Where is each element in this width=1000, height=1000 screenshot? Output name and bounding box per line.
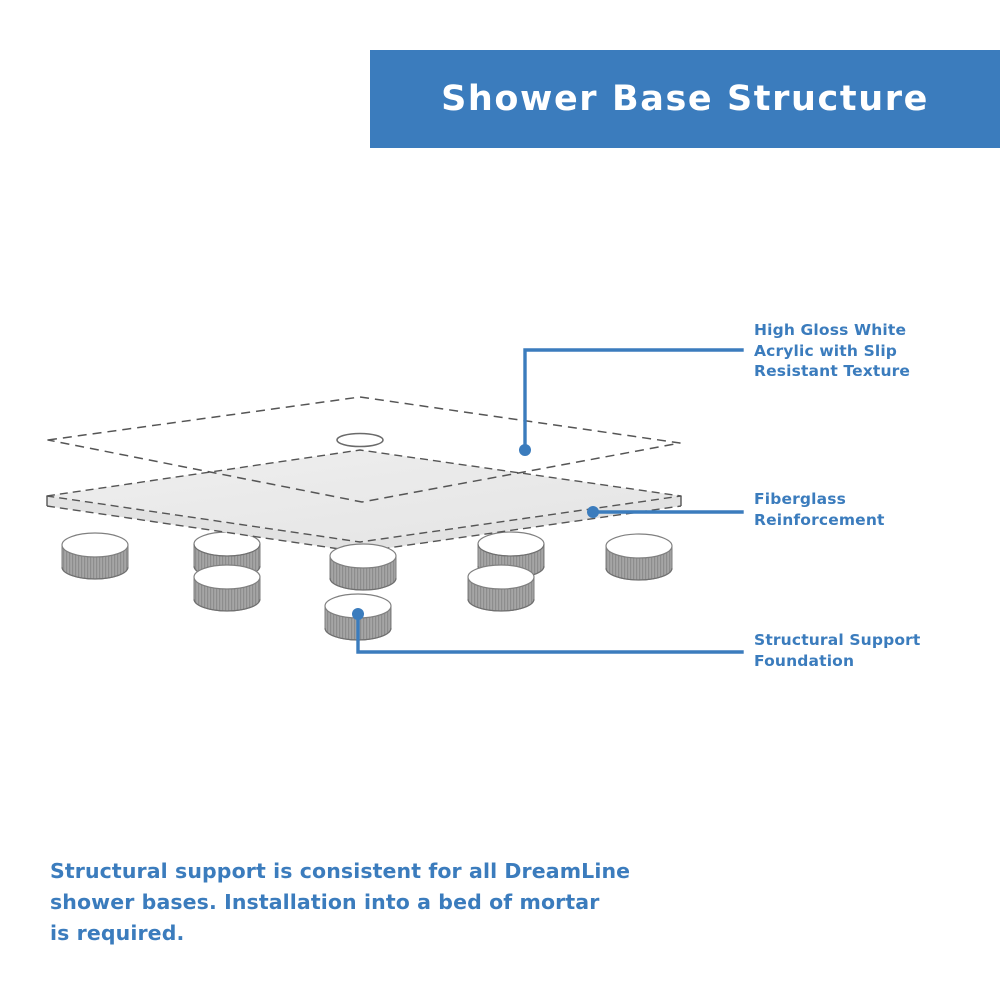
leader-line-support — [352, 608, 742, 652]
support-ring-group-front — [62, 533, 672, 640]
footer-caption: Structural support is consistent for all… — [50, 856, 670, 949]
support-ring — [606, 534, 672, 580]
support-ring — [330, 544, 396, 590]
support-ring — [194, 565, 260, 611]
drain-icon — [337, 434, 383, 447]
page-title: Shower Base Structure — [441, 79, 929, 119]
header-banner: Shower Base Structure — [370, 50, 1000, 148]
fiberglass-slab — [47, 450, 681, 552]
support-ring — [62, 533, 128, 579]
callout-label-acrylic: High Gloss White Acrylic with Slip Resis… — [754, 320, 984, 382]
support-ring — [468, 565, 534, 611]
callout-label-fiberglass: Fiberglass Reinforcement — [754, 489, 984, 530]
leader-line-acrylic — [519, 350, 742, 456]
callout-label-support-foundation: Structural Support Foundation — [754, 630, 984, 671]
diagram-canvas: Shower Base Structure — [0, 0, 1000, 1000]
